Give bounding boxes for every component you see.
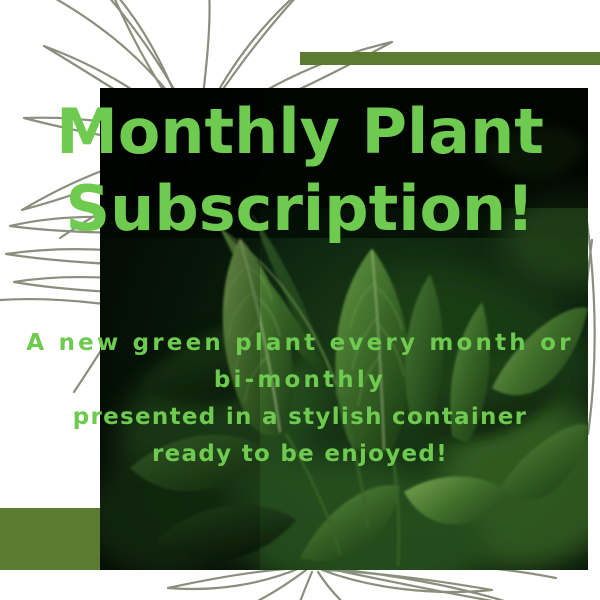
text-layer: Monthly Plant Subscription! A new green … [0,0,600,600]
headline-line-1: Monthly Plant [0,101,600,163]
body-line-3: presented in a stylish container [0,406,600,429]
headline-line-2: Subscription! [0,178,600,240]
body-line-1: A new green plant every month or [0,332,600,355]
poster-canvas: Monthly Plant Subscription! A new green … [0,0,600,600]
body-line-4: ready to be enjoyed! [0,443,600,466]
body-line-2: bi-monthly [0,369,600,392]
